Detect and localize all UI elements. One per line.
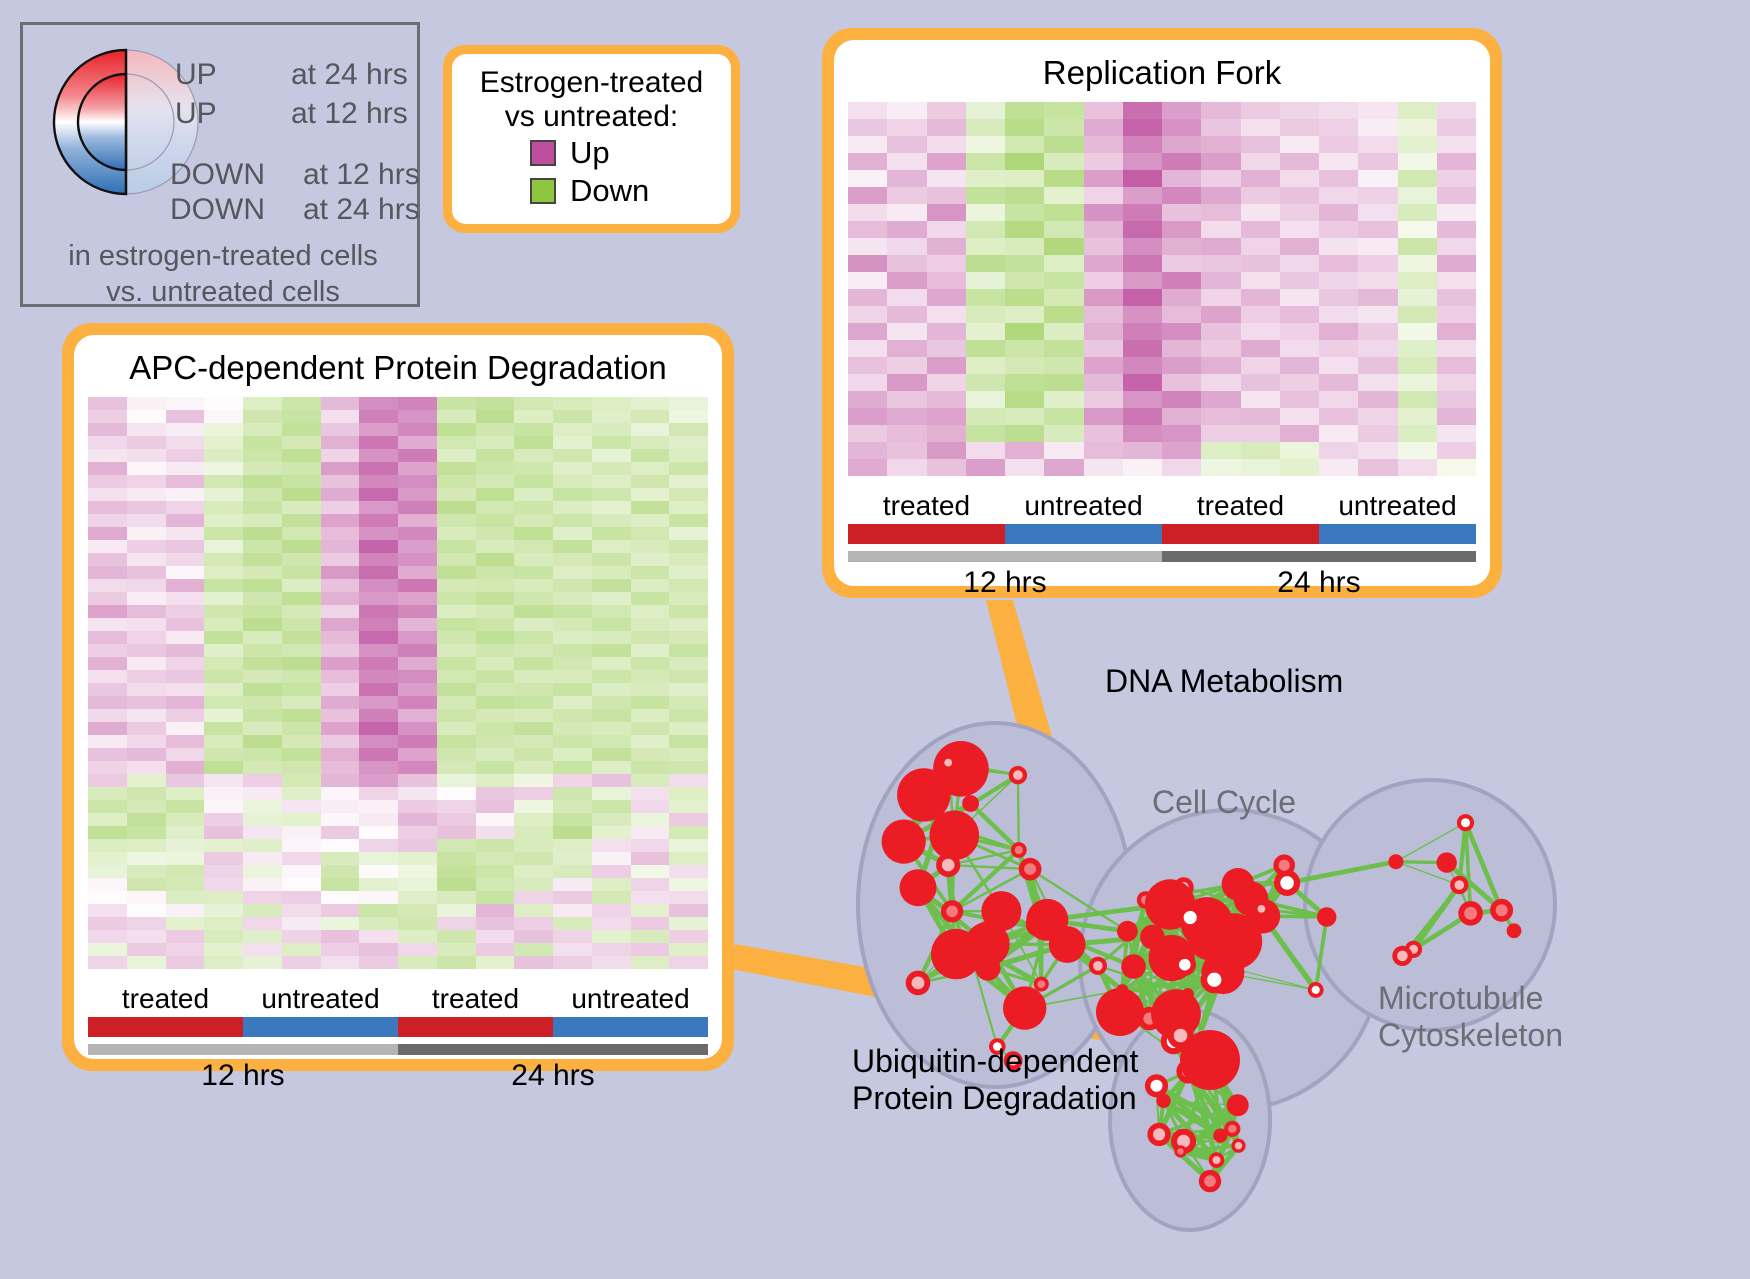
heatmap-cell: [1162, 391, 1201, 408]
heatmap-cell: [1319, 357, 1358, 374]
heatmap-cell: [1437, 306, 1476, 323]
heatmap-cell: [1201, 391, 1240, 408]
heatmap-cell: [1358, 255, 1397, 272]
rf-cond-0: treated: [848, 490, 1005, 522]
network-edge: [1018, 775, 1019, 850]
heatmap-cell: [243, 943, 282, 956]
heatmap-cell: [966, 408, 1005, 425]
heatmap-cell: [553, 683, 592, 696]
heatmap-cell: [1044, 170, 1083, 187]
heatmap-cell: [592, 735, 631, 748]
heatmap-cell: [398, 943, 437, 956]
heatmap-cell: [88, 787, 127, 800]
heatmap-cell: [476, 462, 515, 475]
heatmap-cell: [553, 956, 592, 969]
heatmap-cell: [88, 891, 127, 904]
network-node[interactable]: [1490, 899, 1513, 922]
heatmap-cell: [321, 540, 360, 553]
network-node[interactable]: [1180, 1030, 1240, 1090]
network-node[interactable]: [1174, 1145, 1186, 1157]
heatmap-cell: [553, 865, 592, 878]
rf-time-bar: [848, 551, 1476, 562]
heatmap-cell: [321, 930, 360, 943]
network-node[interactable]: [1026, 899, 1068, 941]
heatmap-cell: [88, 475, 127, 488]
heatmap-cell: [359, 826, 398, 839]
apc-time-0: 12 hrs: [88, 1059, 398, 1093]
heatmap-cell: [592, 527, 631, 540]
heatmap-cell: [592, 904, 631, 917]
heatmap-cell: [476, 722, 515, 735]
heatmap-cell: [887, 187, 926, 204]
heatmap-cell: [88, 670, 127, 683]
heatmap-cell: [1201, 102, 1240, 119]
heatmap-cell: [514, 501, 553, 514]
heatmap-cell: [553, 813, 592, 826]
heatmap-cell: [437, 488, 476, 501]
heatmap-cell: [848, 221, 887, 238]
heatmap-cell: [127, 904, 166, 917]
heatmap-cell: [669, 761, 708, 774]
heatmap-cell: [1358, 204, 1397, 221]
heatmap-cell: [166, 488, 205, 501]
heatmap-cell: [1398, 408, 1437, 425]
heatmap-cell: [1123, 459, 1162, 476]
heatmap-cell: [282, 852, 321, 865]
heatmap-cell: [514, 670, 553, 683]
heatmap-cell: [321, 592, 360, 605]
heatmap-cell: [631, 930, 670, 943]
heatmap-cell: [166, 839, 205, 852]
heatmap-cell: [166, 605, 205, 618]
heatmap-cell: [1241, 391, 1280, 408]
apc-cond-0: treated: [88, 983, 243, 1015]
heatmap-cell: [437, 514, 476, 527]
heatmap-cell: [1437, 119, 1476, 136]
heatmap-cell: [1084, 323, 1123, 340]
heatmap-cell: [1241, 204, 1280, 221]
heatmap-cell: [848, 272, 887, 289]
heatmap-cell: [437, 670, 476, 683]
legend-caption-line1: in estrogen-treated cells: [23, 238, 423, 274]
heatmap-cell: [204, 449, 243, 462]
cluster-label-ubiquitin-line2: Protein Degradation: [852, 1080, 1138, 1117]
heatmap-cell: [1241, 289, 1280, 306]
heatmap-cell: [592, 696, 631, 709]
heatmap-cell: [243, 735, 282, 748]
heatmap-cell: [1044, 289, 1083, 306]
network-node[interactable]: [1206, 913, 1262, 969]
network-node[interactable]: [1227, 1094, 1249, 1116]
apc-cond-1: untreated: [243, 983, 398, 1015]
heatmap-cell: [88, 800, 127, 813]
heatmap-cell: [848, 119, 887, 136]
heatmap-cell: [437, 579, 476, 592]
heatmap-cell: [359, 501, 398, 514]
heatmap-cell: [966, 238, 1005, 255]
heatmap-cell: [553, 839, 592, 852]
network-node[interactable]: [1117, 921, 1138, 942]
heatmap-cell: [669, 475, 708, 488]
network-node[interactable]: [897, 768, 950, 821]
network-node[interactable]: [1199, 1170, 1221, 1192]
heatmap-cell: [476, 475, 515, 488]
heatmap-cell: [476, 657, 515, 670]
network-node[interactable]: [1121, 954, 1146, 979]
heatmap-cell: [1398, 459, 1437, 476]
heatmap-cell: [631, 475, 670, 488]
heatmap-cell: [282, 670, 321, 683]
heatmap-cell: [1084, 170, 1123, 187]
heatmap-cell: [1123, 323, 1162, 340]
heatmap-cell: [669, 579, 708, 592]
heatmap-cell: [437, 956, 476, 969]
heatmap-cell: [1201, 306, 1240, 323]
network-node[interactable]: [1145, 1074, 1168, 1097]
heatmap-cell: [398, 553, 437, 566]
heatmap-cell: [592, 813, 631, 826]
heatmap-cell: [927, 323, 966, 340]
network-node[interactable]: [1457, 814, 1474, 831]
network-node[interactable]: [962, 795, 979, 812]
network-node[interactable]: [1096, 988, 1144, 1036]
heatmap-cell: [1044, 425, 1083, 442]
heatmap-cell: [669, 592, 708, 605]
heatmap-cell: [631, 904, 670, 917]
network-node[interactable]: [1177, 905, 1203, 931]
heatmap-cell: [1280, 102, 1319, 119]
heatmap-cell: [359, 787, 398, 800]
heatmap-cell: [1437, 272, 1476, 289]
heatmap-cell: [476, 943, 515, 956]
heatmap-cell: [631, 670, 670, 683]
heatmap-cell: [359, 696, 398, 709]
heatmap-cell: [127, 943, 166, 956]
heatmap-cell: [1319, 187, 1358, 204]
heatmap-cell: [359, 891, 398, 904]
heatmap-cell: [1162, 153, 1201, 170]
network-node[interactable]: [1507, 923, 1522, 938]
heatmap-cell: [514, 488, 553, 501]
network-node[interactable]: [1034, 977, 1049, 992]
heatmap-cell: [398, 865, 437, 878]
heatmap-cell: [437, 644, 476, 657]
heatmap-cell: [282, 488, 321, 501]
network-node[interactable]: [1437, 852, 1457, 872]
heatmap-cell: [1162, 187, 1201, 204]
heatmap-cell: [927, 272, 966, 289]
network-node[interactable]: [1231, 1139, 1245, 1153]
heatmap-cell: [321, 475, 360, 488]
heatmap-cell: [204, 670, 243, 683]
heatmap-cell: [359, 631, 398, 644]
heatmap-cell: [1280, 119, 1319, 136]
heatmap-cell: [282, 956, 321, 969]
heatmap-cell: [282, 930, 321, 943]
heatmap-cell: [437, 943, 476, 956]
heatmap-cell: [282, 410, 321, 423]
rf-cond-1: untreated: [1005, 490, 1162, 522]
heatmap-cell: [927, 289, 966, 306]
heatmap-cell: [359, 462, 398, 475]
heatmap-cell: [514, 774, 553, 787]
heatmap-cell: [514, 423, 553, 436]
heatmap-cell: [127, 449, 166, 462]
heatmap-cell: [669, 852, 708, 865]
heatmap-cell: [398, 514, 437, 527]
heatmap-cell: [398, 475, 437, 488]
heatmap-cell: [553, 787, 592, 800]
network-node[interactable]: [1458, 901, 1483, 926]
heatmap-cell: [282, 553, 321, 566]
legend-at-12-a-label: at 12 hrs: [291, 97, 408, 131]
heatmap-cell: [398, 566, 437, 579]
heatmap-cell: [1319, 340, 1358, 357]
heatmap-cell: [1201, 459, 1240, 476]
heatmap-cell: [88, 904, 127, 917]
heatmap-cell: [1162, 119, 1201, 136]
network-node[interactable]: [961, 947, 984, 970]
heatmap-cell: [1398, 374, 1437, 391]
heatmap-cell: [359, 423, 398, 436]
heatmap-cell: [437, 917, 476, 930]
heatmap-cell: [321, 488, 360, 501]
heatmap-cell: [1084, 357, 1123, 374]
heatmap-cell: [927, 408, 966, 425]
heatmap-cell: [127, 423, 166, 436]
heatmap-cell: [1319, 255, 1358, 272]
heatmap-cell: [321, 761, 360, 774]
heatmap-cell: [553, 631, 592, 644]
heatmap-cell: [1044, 340, 1083, 357]
up-swatch-icon: [530, 140, 556, 166]
heatmap-cell: [437, 761, 476, 774]
heatmap-cell: [321, 566, 360, 579]
network-node[interactable]: [906, 971, 931, 996]
heatmap-cell: [1280, 340, 1319, 357]
heatmap-cell: [1162, 255, 1201, 272]
heatmap-cell: [476, 618, 515, 631]
network-node[interactable]: [1213, 1129, 1227, 1143]
network-node[interactable]: [1009, 766, 1027, 784]
legend-down-24-label: DOWN: [170, 193, 265, 227]
heatmap-cell: [166, 592, 205, 605]
heatmap-cell: [437, 566, 476, 579]
heatmap-cell: [398, 410, 437, 423]
heatmap-cell: [1005, 357, 1044, 374]
heatmap-cell: [437, 904, 476, 917]
heatmap-cell: [848, 459, 887, 476]
heatmap-cell: [204, 423, 243, 436]
legend-up-12-label: UP: [175, 97, 217, 131]
heatmap-cell: [166, 397, 205, 410]
network-node[interactable]: [1201, 966, 1228, 993]
heatmap-cell: [127, 514, 166, 527]
heatmap-cell: [927, 374, 966, 391]
cluster-label-microtubule-line2: Cytoskeleton: [1378, 1017, 1563, 1054]
heatmap-cell: [1398, 255, 1437, 272]
heatmap-cell: [631, 826, 670, 839]
heatmap-cell: [166, 644, 205, 657]
heatmap-cell: [437, 423, 476, 436]
heatmap-cell: [282, 683, 321, 696]
heatmap-cell: [243, 644, 282, 657]
heatmap-cell: [476, 683, 515, 696]
heatmap-cell: [282, 527, 321, 540]
network-node[interactable]: [941, 900, 963, 922]
network-node[interactable]: [882, 820, 926, 864]
heatmap-replication-fork: [848, 102, 1476, 476]
heatmap-cell: [553, 540, 592, 553]
heatmap-cell: [1319, 221, 1358, 238]
heatmap-cell: [359, 761, 398, 774]
heatmap-cell: [631, 618, 670, 631]
heatmap-cell: [359, 904, 398, 917]
heatmap-cell: [669, 605, 708, 618]
heatmap-cell: [321, 722, 360, 735]
heatmap-cell: [1437, 170, 1476, 187]
network-node[interactable]: [1209, 1152, 1225, 1168]
heatmap-cell: [243, 761, 282, 774]
heatmap-cell: [966, 221, 1005, 238]
heatmap-cell: [592, 930, 631, 943]
heatmap-cell: [592, 748, 631, 761]
heatmap-cell: [1437, 187, 1476, 204]
network-node[interactable]: [900, 869, 937, 906]
heatmap-cell: [1084, 340, 1123, 357]
heatmap-cell: [1162, 170, 1201, 187]
heatmap-cell: [1123, 255, 1162, 272]
heatmap-cell: [592, 787, 631, 800]
heatmap-cell: [204, 566, 243, 579]
heatmap-cell: [398, 592, 437, 605]
network-node[interactable]: [1388, 854, 1403, 869]
heatmap-cell: [476, 514, 515, 527]
heatmap-cell: [88, 514, 127, 527]
heatmap-cell: [321, 865, 360, 878]
heatmap-cell: [127, 410, 166, 423]
heatmap-cell: [437, 397, 476, 410]
network-node[interactable]: [1019, 858, 1042, 881]
heatmap-cell: [669, 644, 708, 657]
network-node[interactable]: [1089, 957, 1107, 975]
heatmap-cell: [1123, 442, 1162, 459]
heatmap-cell: [88, 631, 127, 644]
heatmap-cell: [1280, 459, 1319, 476]
network-node[interactable]: [1147, 1123, 1170, 1146]
heatmap-cell: [204, 722, 243, 735]
heatmap-cell: [204, 813, 243, 826]
rf-time-labels: 12 hrs 24 hrs: [848, 566, 1476, 600]
heatmap-cell: [514, 865, 553, 878]
heatmap-cell: [88, 878, 127, 891]
network-node[interactable]: [1174, 954, 1196, 976]
heatmap-cell: [243, 748, 282, 761]
heatmap-cell: [282, 475, 321, 488]
heatmap-cell: [398, 540, 437, 553]
heatmap-cell: [1005, 136, 1044, 153]
heatmap-cell: [88, 761, 127, 774]
heatmap-cell: [514, 839, 553, 852]
heatmap-cell: [1319, 323, 1358, 340]
network-node[interactable]: [1011, 842, 1027, 858]
heatmap-cell: [398, 696, 437, 709]
heatmap-cell: [476, 410, 515, 423]
heatmap-cell: [88, 449, 127, 462]
heatmap-cell: [514, 891, 553, 904]
heatmap-cell: [848, 425, 887, 442]
heatmap-cell: [1319, 374, 1358, 391]
heatmap-cell: [88, 735, 127, 748]
heatmap-cell: [1201, 255, 1240, 272]
heatmap-cell: [592, 644, 631, 657]
heatmap-cell: [631, 774, 670, 787]
heatmap-cell: [592, 956, 631, 969]
heatmap-cell: [1241, 170, 1280, 187]
network-node[interactable]: [1273, 854, 1295, 876]
heatmap-cell: [1044, 459, 1083, 476]
down-label: Down: [570, 173, 649, 209]
heatmap-cell: [848, 102, 887, 119]
network-node[interactable]: [1308, 982, 1324, 998]
heatmap-cell: [204, 605, 243, 618]
network-node[interactable]: [941, 755, 956, 770]
heatmap-cell: [166, 930, 205, 943]
heatmap-cell: [243, 878, 282, 891]
heatmap-cell: [88, 488, 127, 501]
heatmap-cell: [204, 826, 243, 839]
heatmap-cell: [437, 618, 476, 631]
heatmap-cell: [553, 436, 592, 449]
heatmap-cell: [1319, 102, 1358, 119]
heatmap-cell: [669, 540, 708, 553]
heatmap-cell: [437, 683, 476, 696]
heatmap-cell: [631, 410, 670, 423]
heatmap-cell: [1280, 425, 1319, 442]
heatmap-cell: [127, 670, 166, 683]
heatmap-cell: [321, 904, 360, 917]
heatmap-cell: [321, 436, 360, 449]
network-node[interactable]: [1317, 907, 1336, 926]
heatmap-cell: [166, 800, 205, 813]
heatmap-cell: [1084, 391, 1123, 408]
heatmap-cell: [243, 553, 282, 566]
heatmap-cell: [437, 891, 476, 904]
heatmap-cell: [204, 956, 243, 969]
heatmap-cell: [631, 735, 670, 748]
network-node[interactable]: [1254, 901, 1269, 916]
network-node[interactable]: [936, 853, 960, 877]
heatmap-cell: [1437, 391, 1476, 408]
network-node[interactable]: [1392, 946, 1412, 966]
heatmap-cell: [848, 306, 887, 323]
heatmap-cell: [398, 423, 437, 436]
heatmap-cell: [631, 852, 670, 865]
heatmap-cell: [166, 449, 205, 462]
network-node[interactable]: [1003, 986, 1046, 1029]
heatmap-cell: [1319, 136, 1358, 153]
heatmap-cell: [243, 631, 282, 644]
heatmap-cell: [1319, 391, 1358, 408]
heatmap-cell: [553, 826, 592, 839]
heatmap-cell: [204, 787, 243, 800]
heatmap-cell: [887, 238, 926, 255]
pathway-network-graph: [790, 620, 1750, 1279]
heatmap-cell: [1319, 153, 1358, 170]
heatmap-cell: [282, 735, 321, 748]
network-node[interactable]: [1450, 876, 1468, 894]
heatmap-cell: [514, 540, 553, 553]
